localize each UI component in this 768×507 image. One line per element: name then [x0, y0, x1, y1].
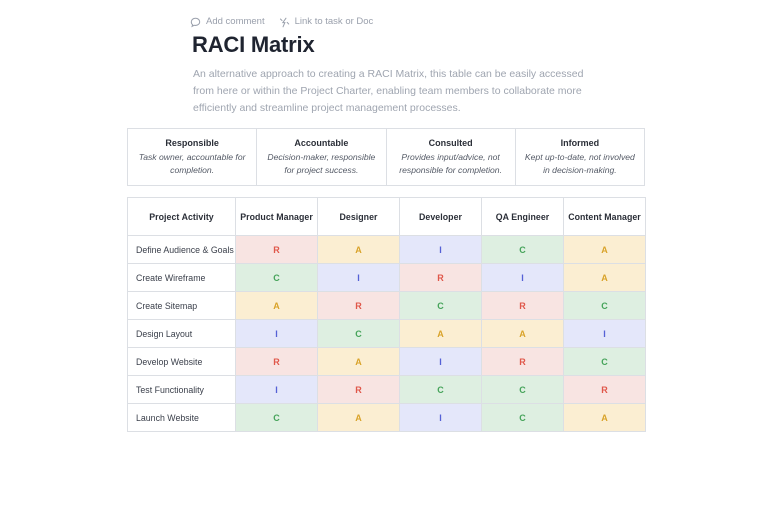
raci-cell[interactable]: A: [482, 320, 564, 348]
column-header-qa-engineer[interactable]: QA Engineer: [482, 198, 564, 236]
table-row[interactable]: Create SitemapARCRC: [128, 292, 646, 320]
raci-cell[interactable]: R: [236, 236, 318, 264]
raci-cell[interactable]: A: [318, 236, 400, 264]
raci-cell[interactable]: A: [564, 404, 646, 432]
raci-cell[interactable]: A: [318, 348, 400, 376]
raci-cell[interactable]: R: [564, 376, 646, 404]
raci-cell[interactable]: R: [482, 348, 564, 376]
legend-term: Consulted: [395, 136, 507, 150]
table-row[interactable]: Develop WebsiteRAIRC: [128, 348, 646, 376]
table-row[interactable]: Design LayoutICAAI: [128, 320, 646, 348]
matrix-header-row: Project Activity Product Manager Designe…: [128, 198, 646, 236]
column-header-content-manager[interactable]: Content Manager: [564, 198, 646, 236]
column-header-designer[interactable]: Designer: [318, 198, 400, 236]
raci-cell[interactable]: I: [318, 264, 400, 292]
table-row[interactable]: Define Audience & GoalsRAICA: [128, 236, 646, 264]
raci-cell[interactable]: C: [236, 264, 318, 292]
activity-cell[interactable]: Launch Website: [128, 404, 236, 432]
legend-cell-consulted: Consulted Provides input/advice, not res…: [386, 129, 515, 186]
raci-cell[interactable]: R: [482, 292, 564, 320]
raci-cell[interactable]: I: [564, 320, 646, 348]
link-to-task-label: Link to task or Doc: [295, 17, 374, 27]
add-comment-label: Add comment: [206, 17, 265, 27]
raci-cell[interactable]: C: [482, 236, 564, 264]
column-header-developer[interactable]: Developer: [400, 198, 482, 236]
raci-legend-table: Responsible Task owner, accountable for …: [127, 128, 645, 186]
add-comment-button[interactable]: Add comment: [190, 17, 265, 28]
activity-cell[interactable]: Define Audience & Goals: [128, 236, 236, 264]
page-title: RACI Matrix: [192, 32, 315, 58]
raci-cell[interactable]: R: [236, 348, 318, 376]
legend-term: Accountable: [265, 136, 377, 150]
matrix-body: Define Audience & GoalsRAICACreate Wiref…: [128, 236, 646, 432]
raci-cell[interactable]: R: [400, 264, 482, 292]
legend-definition: Kept up-to-date, not involved in decisio…: [524, 151, 636, 177]
table-row[interactable]: Launch WebsiteCAICA: [128, 404, 646, 432]
legend-cell-accountable: Accountable Decision-maker, responsible …: [257, 129, 386, 186]
raci-cell[interactable]: I: [482, 264, 564, 292]
raci-cell[interactable]: C: [236, 404, 318, 432]
column-header-product-manager[interactable]: Product Manager: [236, 198, 318, 236]
document-page: Add comment Link to task or Doc RACI Mat…: [0, 0, 768, 507]
raci-cell[interactable]: C: [318, 320, 400, 348]
raci-cell[interactable]: A: [564, 236, 646, 264]
legend-definition: Decision-maker, responsible for project …: [265, 151, 377, 177]
raci-cell[interactable]: I: [236, 376, 318, 404]
doc-actions-bar: Add comment Link to task or Doc: [190, 14, 373, 30]
raci-matrix-table[interactable]: Project Activity Product Manager Designe…: [127, 197, 646, 432]
legend-definition: Provides input/advice, not responsible f…: [395, 151, 507, 177]
table-row[interactable]: Create WireframeCIRIA: [128, 264, 646, 292]
spark-link-icon: [279, 17, 290, 28]
raci-cell[interactable]: A: [564, 264, 646, 292]
raci-cell[interactable]: C: [482, 404, 564, 432]
table-row[interactable]: Test FunctionalityIRCCR: [128, 376, 646, 404]
legend-definition: Task owner, accountable for completion.: [136, 151, 248, 177]
link-to-task-button[interactable]: Link to task or Doc: [279, 17, 374, 28]
page-description: An alternative approach to creating a RA…: [193, 66, 593, 117]
activity-cell[interactable]: Test Functionality: [128, 376, 236, 404]
raci-cell[interactable]: I: [236, 320, 318, 348]
raci-cell[interactable]: C: [400, 292, 482, 320]
legend-term: Responsible: [136, 136, 248, 150]
legend-term: Informed: [524, 136, 636, 150]
raci-cell[interactable]: A: [400, 320, 482, 348]
raci-cell[interactable]: C: [482, 376, 564, 404]
legend-row: Responsible Task owner, accountable for …: [128, 129, 645, 186]
raci-cell[interactable]: R: [318, 376, 400, 404]
raci-cell[interactable]: I: [400, 404, 482, 432]
activity-cell[interactable]: Develop Website: [128, 348, 236, 376]
legend-cell-responsible: Responsible Task owner, accountable for …: [128, 129, 257, 186]
comment-icon: [190, 17, 201, 28]
legend-cell-informed: Informed Kept up-to-date, not involved i…: [515, 129, 644, 186]
activity-cell[interactable]: Design Layout: [128, 320, 236, 348]
activity-cell[interactable]: Create Wireframe: [128, 264, 236, 292]
activity-cell[interactable]: Create Sitemap: [128, 292, 236, 320]
raci-cell[interactable]: A: [236, 292, 318, 320]
raci-cell[interactable]: A: [318, 404, 400, 432]
raci-cell[interactable]: C: [400, 376, 482, 404]
raci-cell[interactable]: R: [318, 292, 400, 320]
raci-cell[interactable]: C: [564, 348, 646, 376]
column-header-project-activity[interactable]: Project Activity: [128, 198, 236, 236]
raci-cell[interactable]: C: [564, 292, 646, 320]
raci-cell[interactable]: I: [400, 236, 482, 264]
raci-cell[interactable]: I: [400, 348, 482, 376]
